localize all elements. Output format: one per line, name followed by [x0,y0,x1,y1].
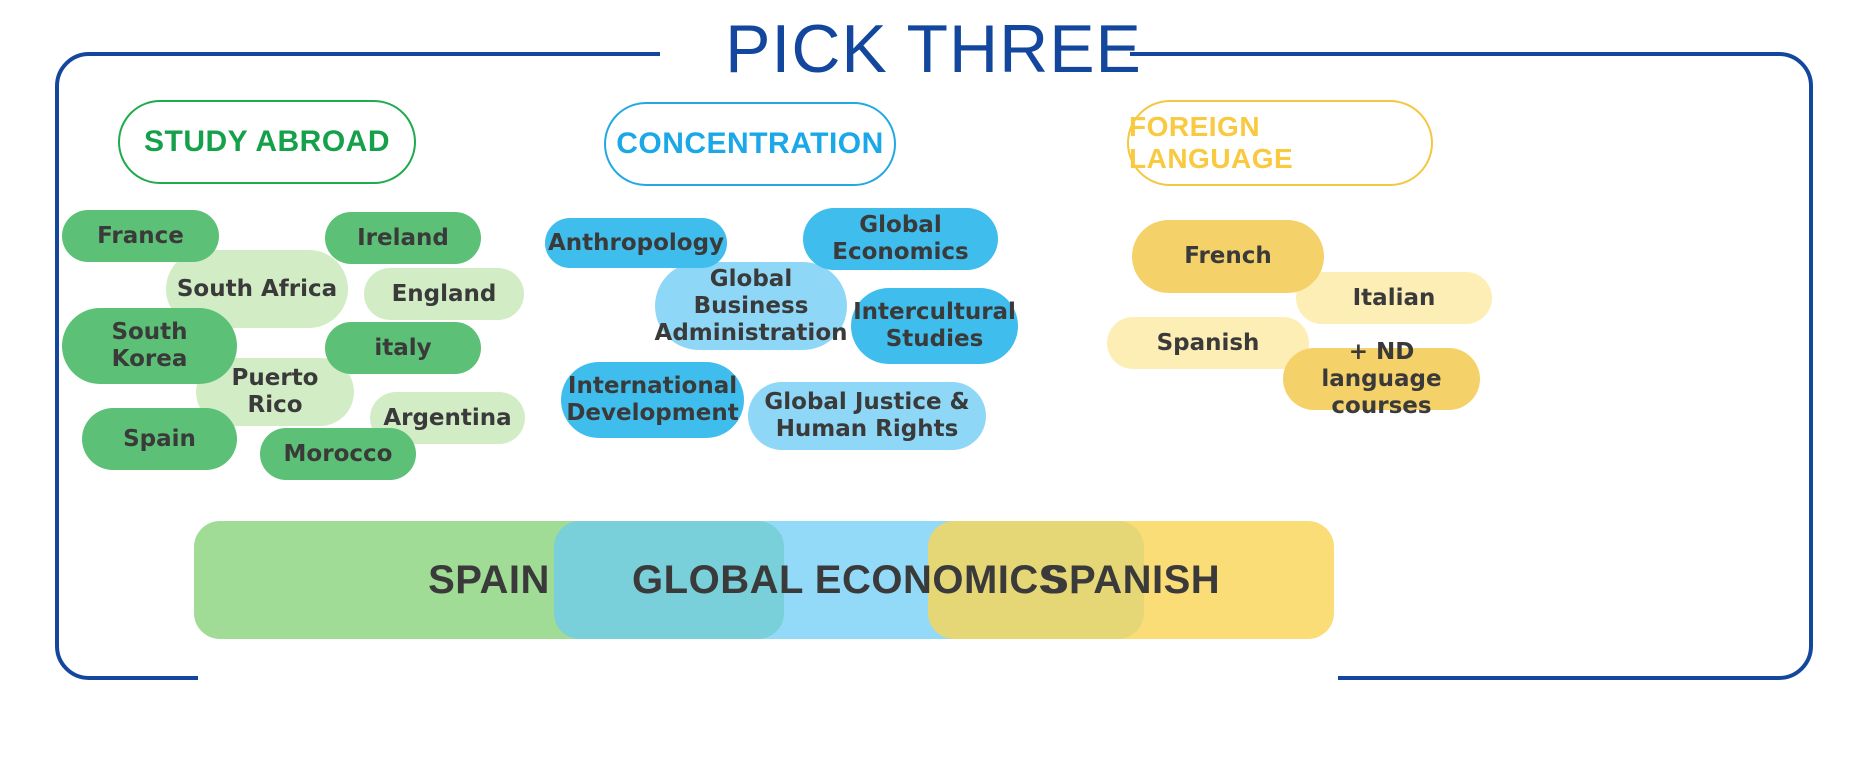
option-pill-global-business-administration[interactable]: Global Business Administration [655,262,847,350]
option-label-intercultural-studies: Intercultural Studies [853,299,1016,353]
option-label-french: French [1184,243,1272,270]
category-header-concentration[interactable]: CONCENTRATION [604,102,896,186]
frame-bottom-gap [198,660,1338,686]
option-pill-south-korea[interactable]: South Korea [62,308,237,384]
result-label-spain: SPAIN [428,558,550,602]
option-label-ireland: Ireland [357,225,449,252]
option-label-argentina: Argentina [383,405,511,432]
option-pill-morocco[interactable]: Morocco [260,428,416,480]
option-label-international-development: International Development [566,373,738,427]
page-title: PICK THREE [0,10,1867,88]
option-pill-intercultural-studies[interactable]: Intercultural Studies [851,288,1018,364]
option-pill-france[interactable]: France [62,210,219,262]
option-label-morocco: Morocco [284,441,393,468]
option-label-italian: Italian [1353,285,1436,312]
result-label-spanish: SPANISH [1042,558,1220,602]
option-pill-nd-language-courses[interactable]: + ND language courses [1283,348,1480,410]
option-pill-anthropology[interactable]: Anthropology [545,218,727,268]
option-pill-england[interactable]: England [364,268,524,320]
category-header-foreign-language[interactable]: FOREIGN LANGUAGE [1127,100,1433,186]
option-label-puerto-rico: Puerto Rico [206,365,344,419]
category-label-study-abroad: STUDY ABROAD [144,125,390,159]
option-pill-global-economics[interactable]: Global Economics [803,208,998,270]
option-label-south-africa: South Africa [177,276,337,303]
option-label-global-economics: Global Economics [813,212,988,266]
result-label-global-economics: GLOBAL ECONOMICS [632,558,1066,602]
option-pill-international-development[interactable]: International Development [561,362,744,438]
option-pill-spain[interactable]: Spain [82,408,237,470]
option-pill-spanish[interactable]: Spanish [1107,317,1309,369]
option-label-global-justice-human-rights: Global Justice & Human Rights [758,389,976,443]
option-label-anthropology: Anthropology [548,230,724,257]
option-label-france: France [97,223,184,250]
option-label-global-business-administration: Global Business Administration [655,266,848,347]
option-pill-global-justice-human-rights[interactable]: Global Justice & Human Rights [748,382,986,450]
option-label-nd-language-courses: + ND language courses [1293,339,1470,420]
option-label-south-korea: South Korea [72,319,227,373]
category-label-concentration: CONCENTRATION [616,127,884,161]
option-label-italy: italy [374,335,431,362]
option-pill-ireland[interactable]: Ireland [325,212,481,264]
option-label-spain: Spain [123,426,196,453]
option-label-spanish: Spanish [1157,330,1260,357]
option-pill-italian[interactable]: Italian [1296,272,1492,324]
option-pill-italy[interactable]: italy [325,322,481,374]
category-label-foreign-language: FOREIGN LANGUAGE [1129,111,1431,175]
infographic-canvas: PICK THREE STUDY ABROAD CONCENTRATION FO… [0,0,1867,776]
category-header-study-abroad[interactable]: STUDY ABROAD [118,100,416,184]
option-pill-french[interactable]: French [1132,220,1324,293]
option-label-england: England [392,281,497,308]
